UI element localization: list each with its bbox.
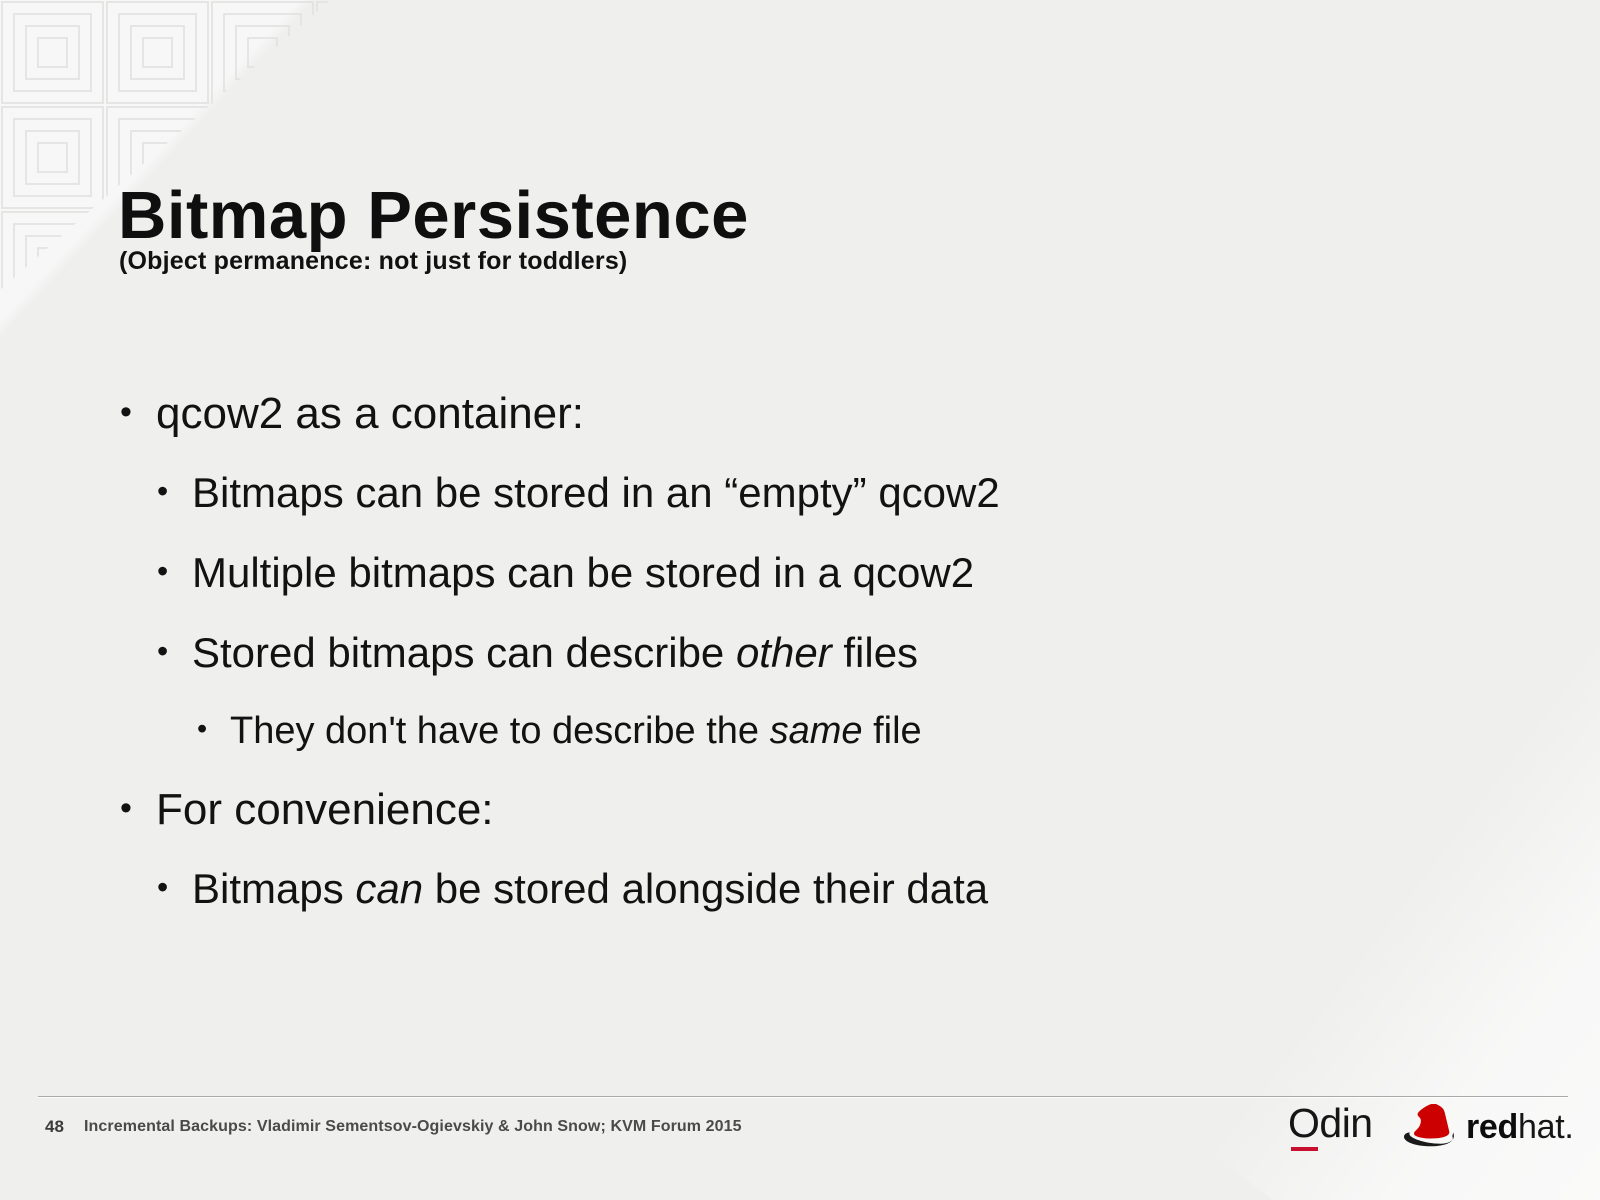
bullet-marker-icon: • [120, 392, 156, 432]
page-title: Bitmap Persistence [118, 181, 749, 251]
bullet-text: Bitmaps can be stored alongside their da… [192, 868, 988, 910]
redhat-shadowman-icon [1400, 1104, 1462, 1152]
slide: Bitmap Persistence (Object permanence: n… [0, 0, 1600, 1200]
redhat-logo-bold-part: red [1466, 1108, 1518, 1146]
bullet-item: • Bitmaps can be stored alongside their … [0, 868, 1600, 910]
bullet-text: They don't have to describe the same fil… [230, 712, 922, 750]
corner-pattern-decoration [0, 0, 420, 340]
bullet-marker-icon: • [197, 712, 230, 747]
redhat-logo-light-part: hat. [1518, 1108, 1574, 1146]
bullet-item: • Multiple bitmaps can be stored in a qc… [0, 552, 1600, 594]
bullet-marker-icon: • [157, 552, 192, 590]
bullet-text: Stored bitmaps can describe other files [192, 632, 918, 674]
bullet-marker-icon: • [157, 472, 192, 510]
bullet-item: • They don't have to describe the same f… [0, 712, 1600, 750]
bullet-marker-icon: • [157, 632, 192, 670]
bullet-text: qcow2 as a container: [156, 392, 584, 436]
odin-logo-accent-bar [1291, 1147, 1318, 1151]
redhat-logo: redhat. [1400, 1098, 1572, 1160]
bullet-list: • qcow2 as a container: • Bitmaps can be… [0, 392, 1600, 948]
bullet-item: • For convenience: [0, 788, 1600, 832]
page-subtitle: (Object permanence: not just for toddler… [119, 247, 627, 276]
footer-divider [38, 1096, 1568, 1097]
bullet-item: • qcow2 as a container: [0, 392, 1600, 436]
redhat-logo-wordmark: redhat. [1466, 1110, 1574, 1144]
bullet-text: Bitmaps can be stored in an “empty” qcow… [192, 472, 1000, 514]
odin-logo: Odin [1288, 1100, 1386, 1158]
bullet-item: • Bitmaps can be stored in an “empty” qc… [0, 472, 1600, 514]
bullet-marker-icon: • [157, 868, 192, 906]
bullet-text: Multiple bitmaps can be stored in a qcow… [192, 552, 974, 594]
odin-logo-wordmark: Odin [1288, 1103, 1373, 1144]
bullet-marker-icon: • [120, 788, 156, 828]
page-number: 48 [45, 1117, 64, 1137]
bullet-text: For convenience: [156, 788, 494, 832]
footer-attribution: Incremental Backups: Vladimir Sementsov-… [84, 1118, 742, 1136]
bullet-item: • Stored bitmaps can describe other file… [0, 632, 1600, 674]
